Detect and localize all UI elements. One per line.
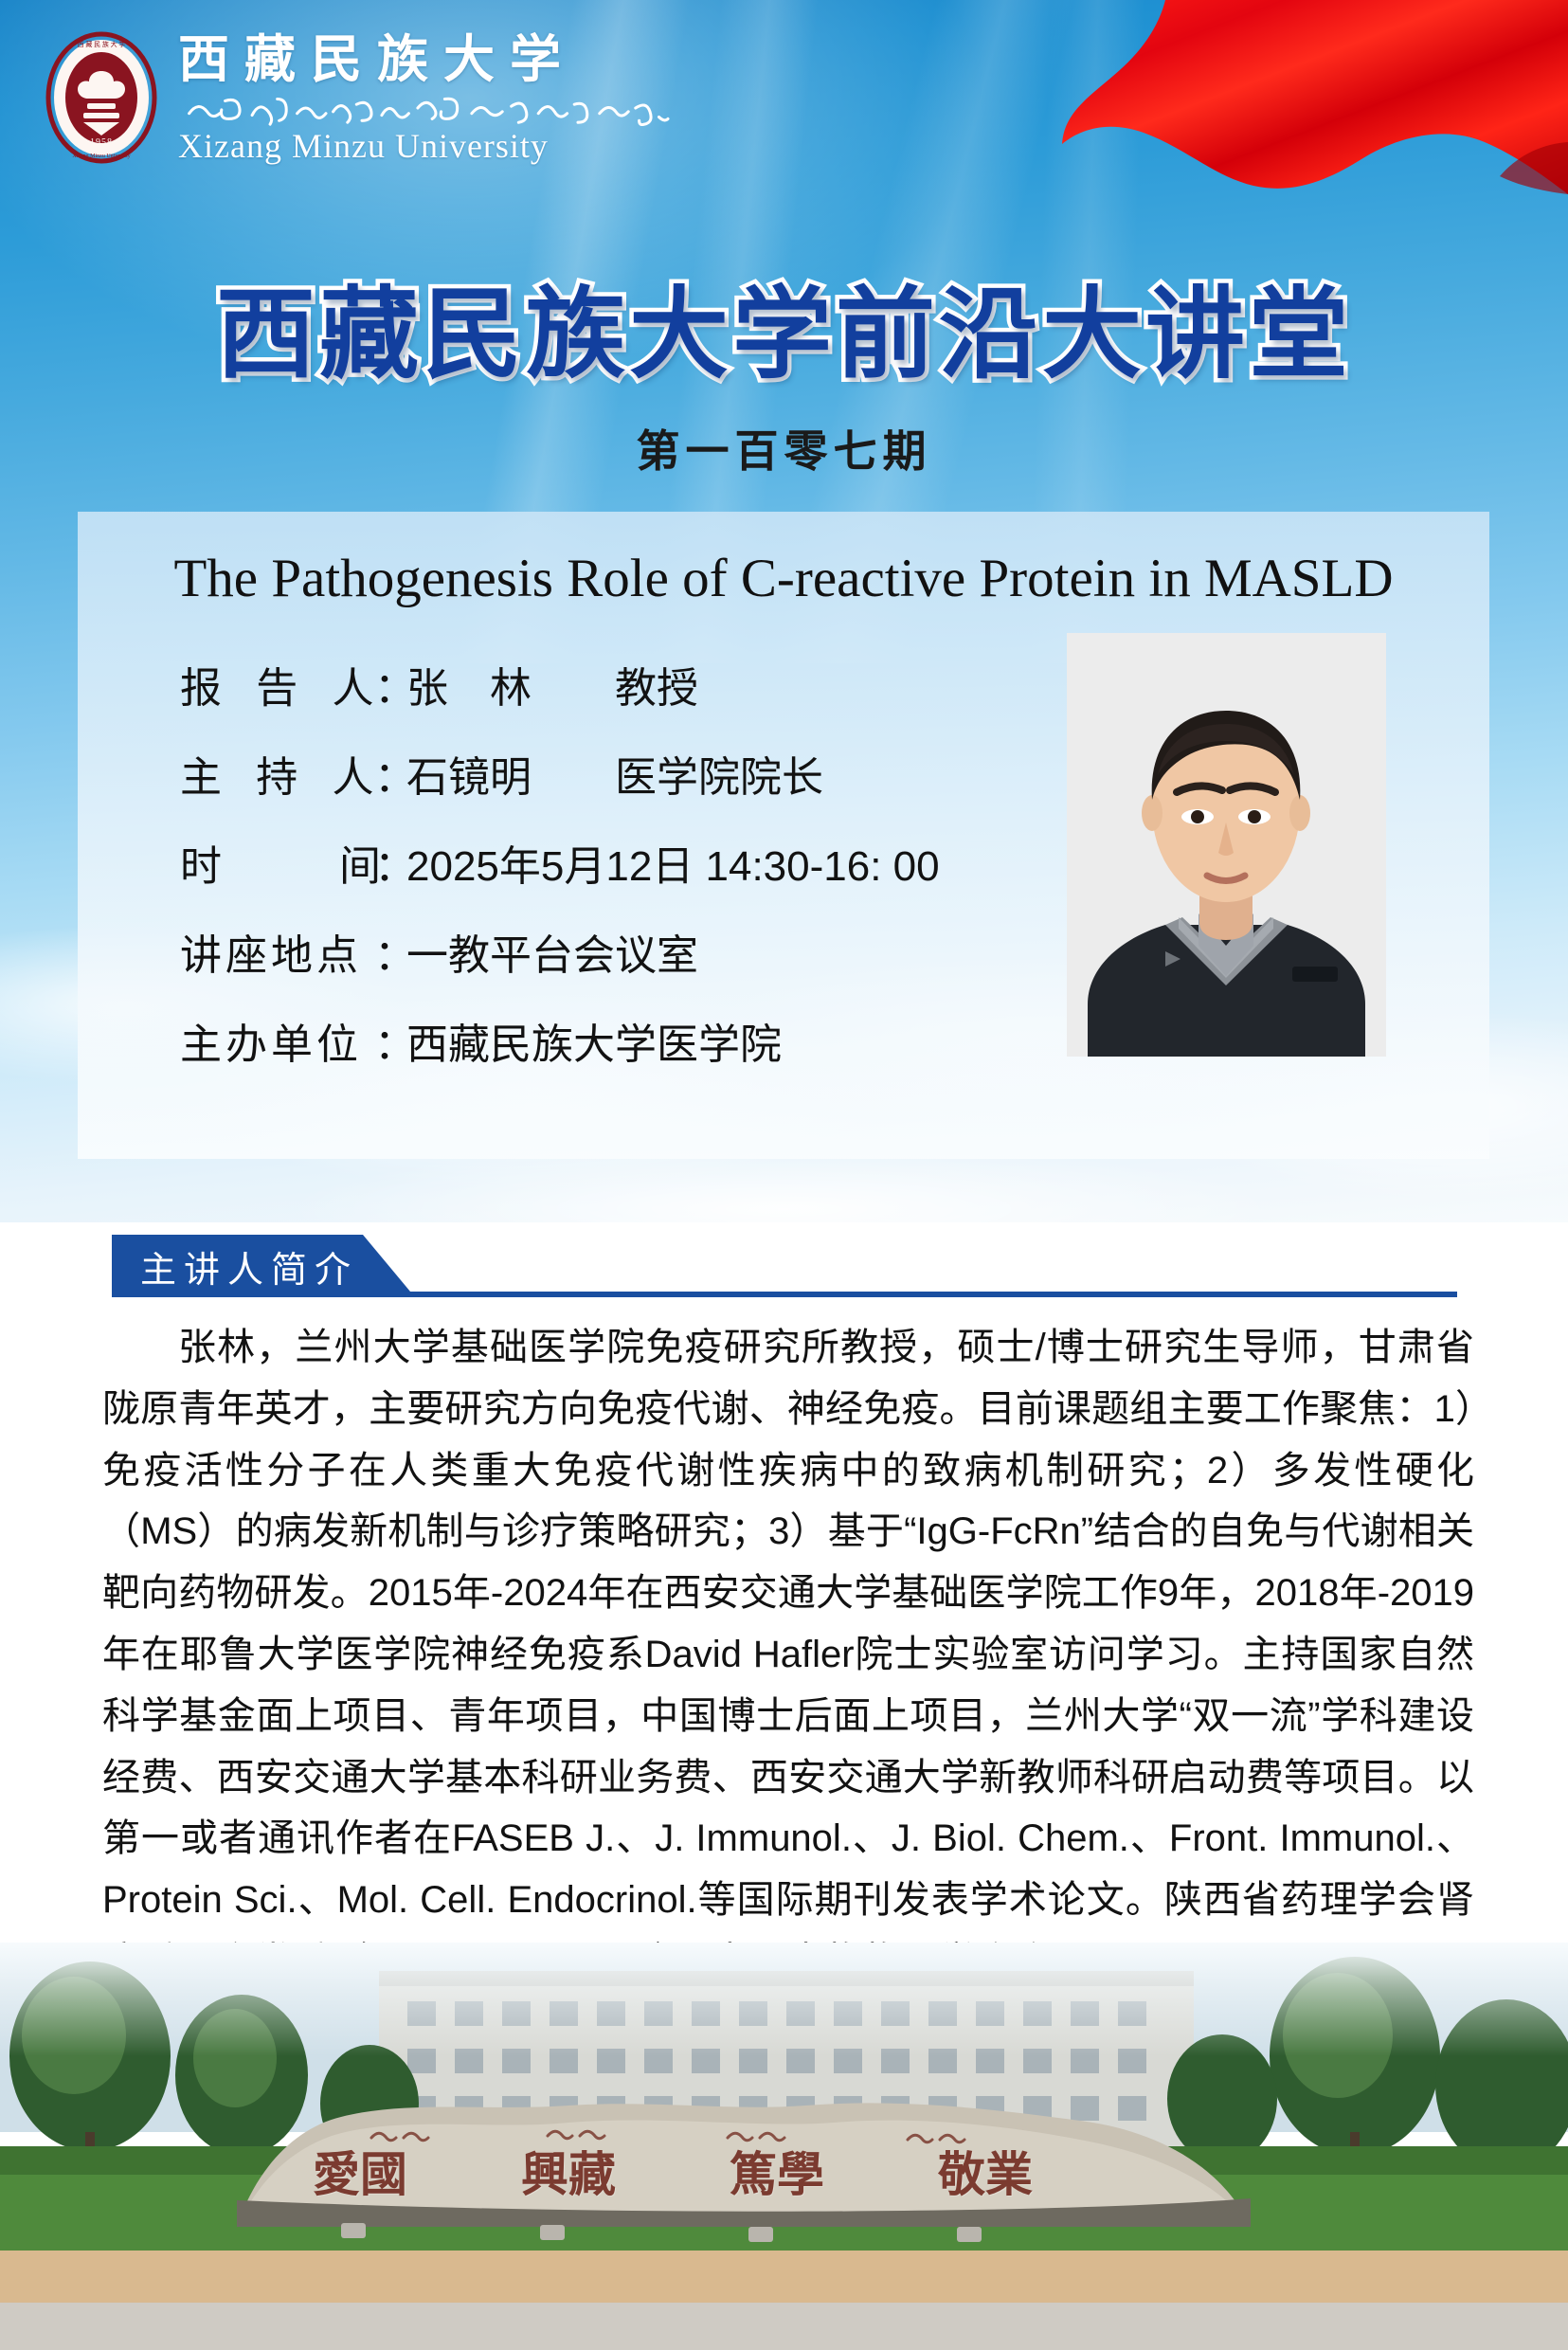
info-label-speaker: 报 告 人 — [180, 668, 374, 710]
bio-banner-rule — [396, 1292, 1457, 1297]
svg-text:1958: 1958 — [90, 137, 113, 148]
info-row-organizer: 主办单位：西藏民族大学医学院 — [180, 1024, 1033, 1066]
info-row-venue: 讲座地点：一教平台会议室 — [180, 935, 1033, 977]
info-value-host: 石镜明 医学院院长 — [406, 754, 823, 801]
info-colon-venue: ： — [374, 935, 406, 977]
lecture-info-card: The Pathogenesis Role of C-reactive Prot… — [78, 512, 1489, 1159]
university-name-en: Xizang Minzu University — [178, 126, 686, 167]
info-value-speaker: 张 林 教授 — [406, 665, 698, 712]
stone-motto: 愛國 興藏 篤學 敬業 — [313, 2137, 1033, 2205]
info-label-host: 主 持 人 — [180, 757, 374, 799]
stone-word-4: 敬業 — [938, 2137, 1033, 2205]
university-emblem-icon: 1958 西 藏 民 族 大 学 Xizang Minzu University — [45, 31, 157, 164]
stone-word-2: 興藏 — [521, 2137, 616, 2205]
lecture-poster: 1958 西 藏 民 族 大 学 Xizang Minzu University… — [0, 0, 1568, 2350]
stone-word-1: 愛國 — [313, 2137, 407, 2205]
info-label-venue: 讲座地点 — [180, 935, 374, 977]
svg-text:Xizang Minzu University: Xizang Minzu University — [72, 154, 130, 159]
info-label-time: 时 间 — [180, 846, 374, 888]
talk-title: The Pathogenesis Role of C-reactive Prot… — [78, 548, 1489, 609]
info-value-time: 2025年5月12日 14:30-16: 00 — [406, 843, 940, 890]
bio-banner-label: 主讲人简介 — [140, 1240, 358, 1292]
bio-body-text: 张林，兰州大学基础医学院免疫研究所教授，硕士/博士研究生导师，甘肃省陇原青年英才… — [102, 1317, 1474, 1993]
info-row-time: 时 间：2025年5月12日 14:30-16: 00 — [180, 846, 1033, 888]
info-row-speaker: 报 告 人：张 林 教授 — [180, 668, 1033, 710]
lecture-info-rows: 报 告 人：张 林 教授 主 持 人：石镜明 医学院院长 时 间：2025年5月… — [180, 668, 1033, 1113]
speaker-photo-illustration — [1067, 633, 1386, 1057]
poster-main-title: 西藏民族大学前沿大讲堂 — [0, 254, 1568, 398]
info-value-organizer: 西藏民族大学医学院 — [406, 1021, 782, 1068]
speaker-portrait — [1067, 633, 1386, 1057]
svg-text:西 藏 民 族 大 学: 西 藏 民 族 大 学 — [78, 40, 126, 48]
info-label-organizer: 主办单位 — [180, 1024, 374, 1066]
info-row-host: 主 持 人：石镜明 医学院院长 — [180, 757, 1033, 799]
info-colon-speaker: ： — [374, 668, 406, 710]
university-name-cn: 西藏民族大学 — [178, 32, 686, 88]
university-logo-block: 1958 西 藏 民 族 大 学 Xizang Minzu University… — [45, 28, 686, 168]
info-colon-organizer: ： — [374, 1024, 406, 1066]
info-colon-time: ： — [374, 846, 406, 888]
university-wordmark: 西藏民族大学 — [178, 32, 686, 168]
info-colon-host: ： — [374, 757, 406, 799]
stone-word-3: 篤學 — [730, 2137, 824, 2205]
bio-section-header: 主讲人简介 — [112, 1235, 1457, 1297]
bio-banner: 主讲人简介 — [112, 1235, 415, 1297]
info-value-venue: 一教平台会议室 — [406, 932, 698, 979]
tibetan-script-icon — [182, 90, 686, 126]
campus-photo: 愛國 興藏 篤學 敬業 — [0, 1943, 1568, 2350]
poster-episode-number: 第一百零七期 — [0, 417, 1568, 479]
